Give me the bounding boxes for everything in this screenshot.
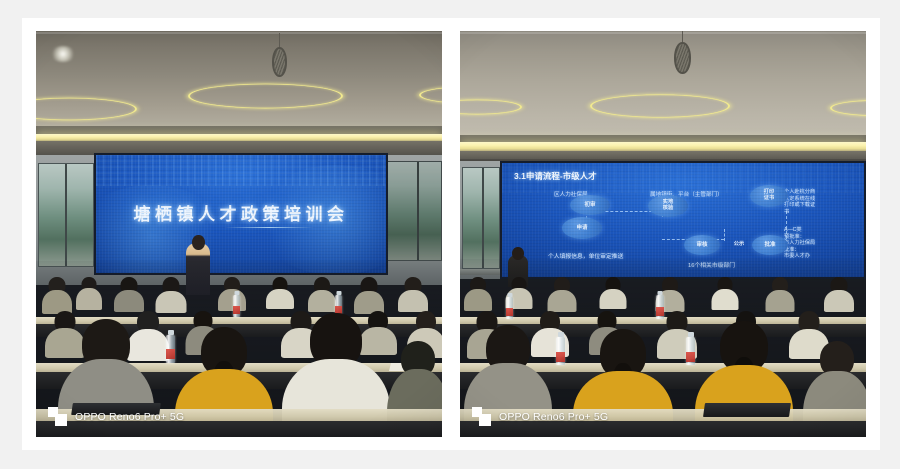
audience-person — [156, 277, 186, 311]
audience-person — [824, 277, 854, 309]
water-bottle — [506, 297, 513, 319]
window — [38, 163, 94, 267]
cove-strip-light — [460, 142, 866, 151]
window-mullion — [482, 168, 484, 268]
watermark-text: OPPO Reno6 Pro+ 5G — [75, 411, 184, 423]
oppo-logo-icon — [48, 407, 67, 426]
photo-card: 塘栖镇人才政策培训会 — [22, 18, 880, 450]
led-title-underline — [224, 227, 314, 228]
photo-left[interactable]: 塘栖镇人才政策培训会 — [36, 31, 442, 437]
flow-node-approve: 批准 — [752, 235, 788, 255]
audience-person — [712, 277, 738, 307]
audience-person — [42, 277, 72, 311]
watermark-left: OPPO Reno6 Pro+ 5G — [48, 407, 184, 426]
cable-coil-icon — [272, 47, 287, 77]
photo-right[interactable]: 3.1申请流程-市级人才 区人力社保局 属地镇街、平台（主管部门） 个人填报信息… — [460, 31, 866, 437]
audience-person — [354, 277, 384, 311]
ceiling-beam — [460, 151, 866, 161]
water-bottle — [166, 335, 175, 363]
audience-person — [548, 277, 576, 309]
slide-label-right-bottom: A—C类 预批准： 市人力社保局 批准： 市委人才办 — [784, 227, 815, 260]
led-screen-left: 塘栖镇人才政策培训会 — [94, 153, 388, 275]
audience-person — [308, 277, 336, 309]
water-bottle — [233, 295, 240, 317]
audience-person — [766, 277, 794, 309]
photo-row: 塘栖镇人才政策培训会 — [22, 18, 880, 450]
audience-person — [398, 277, 428, 309]
flow-node-verify: 实地 核验 — [648, 195, 688, 217]
window-mullion — [417, 162, 419, 260]
cove-strip-light — [36, 134, 442, 141]
audience-person — [464, 277, 492, 309]
cable-coil-icon — [674, 42, 691, 74]
photo-gallery-page: 塘栖镇人才政策培训会 — [0, 0, 900, 469]
flow-node-print: 打印 证书 — [750, 185, 788, 207]
ceiling-seam — [460, 32, 866, 34]
audience-person — [266, 277, 294, 307]
flow-node-audit: 审核 — [684, 235, 720, 255]
watermark-right: OPPO Reno6 Pro+ 5G — [472, 407, 608, 426]
slide-title: 3.1申请流程-市级人才 — [514, 170, 597, 182]
audience-person — [114, 277, 144, 309]
water-bottle — [686, 337, 695, 365]
oppo-logo-icon — [472, 407, 491, 426]
flow-node-first-review: 初审 — [570, 195, 610, 215]
speaker-head — [192, 235, 205, 250]
ring-light — [188, 84, 343, 109]
ceiling-seam — [36, 32, 442, 34]
flow-connector — [724, 229, 725, 241]
watermark-text: OPPO Reno6 Pro+ 5G — [499, 411, 608, 423]
audience-person — [218, 277, 246, 309]
flow-node-publicity: 公示 — [728, 239, 750, 251]
led-screen-title: 塘栖镇人才政策培训会 — [96, 200, 386, 225]
window — [462, 167, 500, 269]
window — [386, 161, 442, 261]
slide-label-right-top: 个人赴杭分商 认定系统在线 打印或下载证 书 — [784, 189, 815, 215]
laptop — [703, 403, 791, 417]
flow-connector — [786, 211, 787, 239]
water-bottle — [556, 337, 565, 365]
audience-person — [76, 277, 102, 307]
ring-light — [590, 94, 730, 117]
window-mullion — [65, 164, 67, 266]
spot-light — [50, 46, 76, 62]
flow-node-apply: 申请 — [562, 217, 602, 239]
audience-person — [600, 277, 626, 307]
